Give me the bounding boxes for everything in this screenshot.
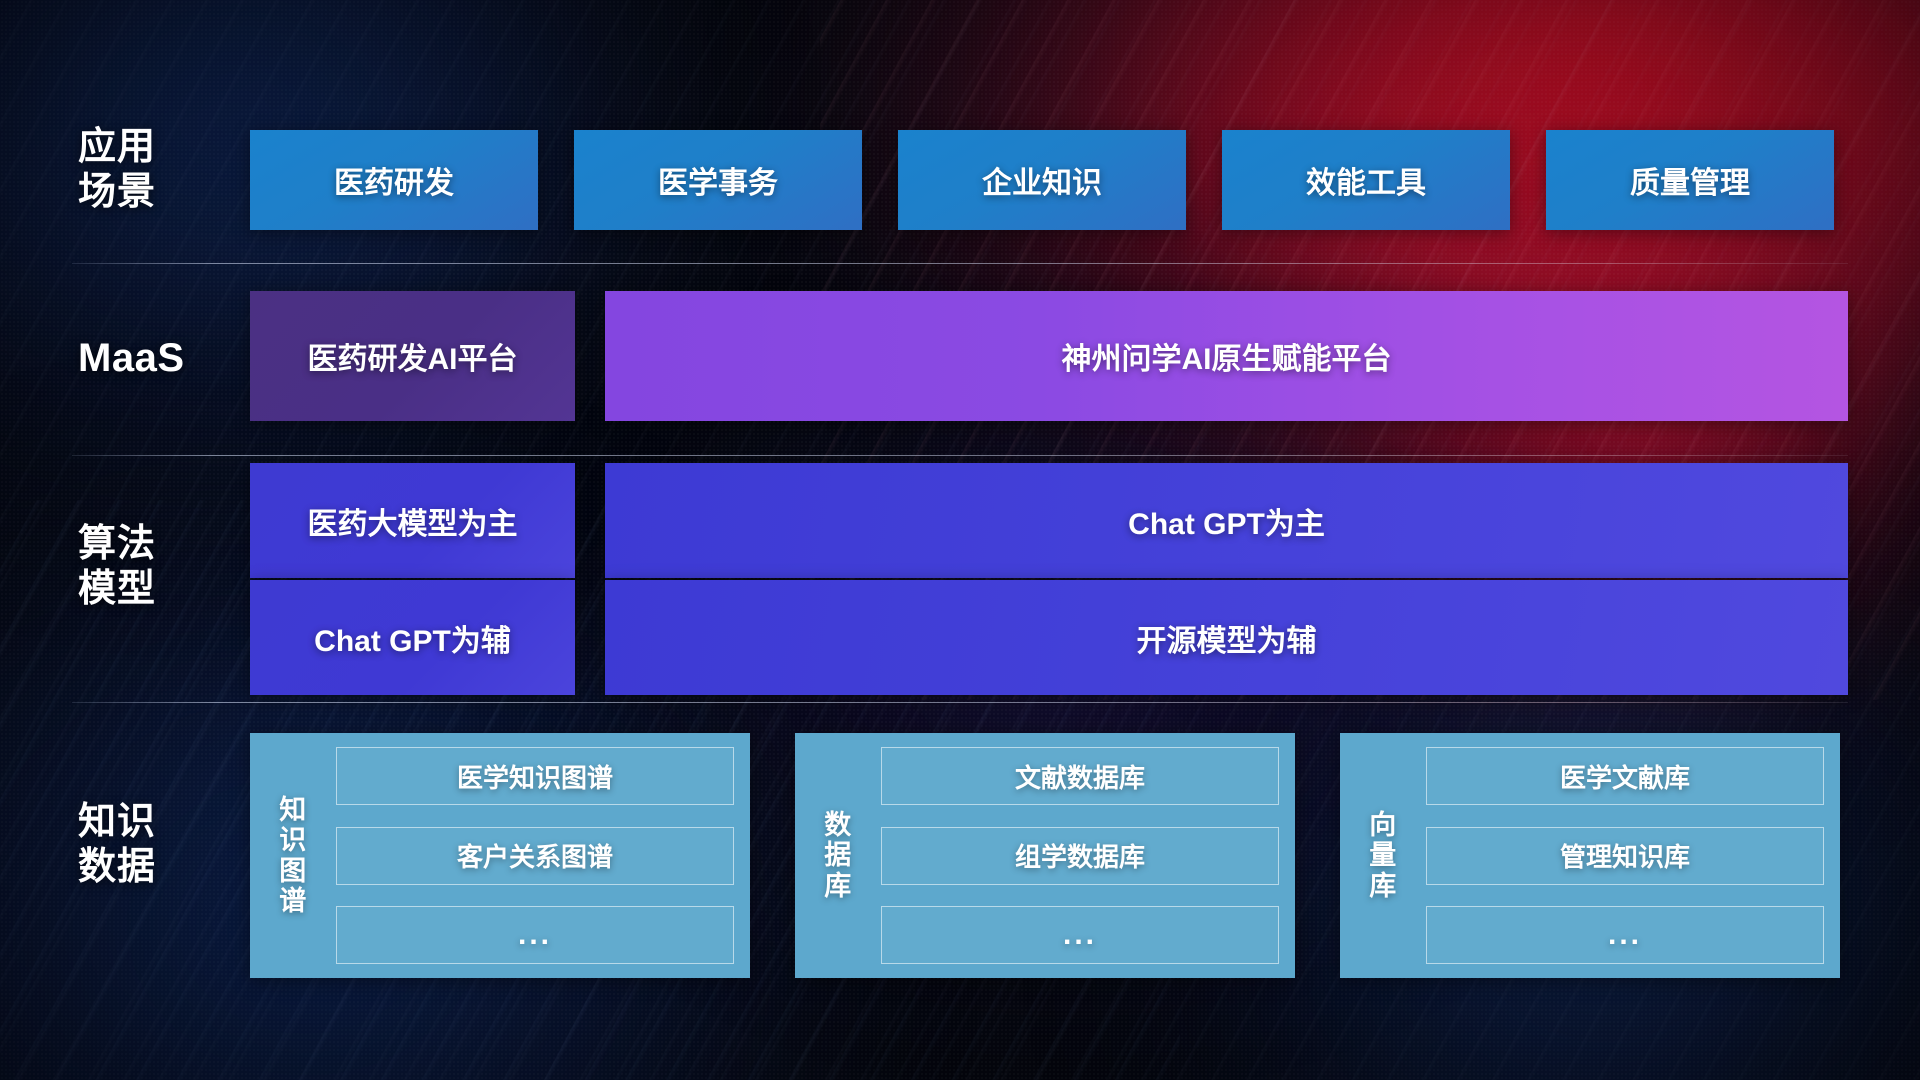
application-layer-row: 医药研发 医学事务 企业知识 效能工具 质量管理 [0,130,1920,230]
vs-title-char-2: 量 [1369,840,1397,870]
maas-layer-row: 医药研发AI平台 神州问学AI原生赋能平台 [0,291,1920,421]
layer-label-algorithm: 算法 模型 [78,522,248,612]
algorithm-box-chatgpt-fu[interactable]: Chat GPT为辅 [250,580,575,695]
kitem-more-vector-store[interactable]: ... [1426,906,1824,964]
algorithm-box-yiyao-damoxing-zhu[interactable]: 医药大模型为主 [250,463,575,578]
db-title-char-3: 库 [824,871,852,901]
db-title-char-2: 据 [824,840,852,870]
knowledge-panel-database[interactable]: 数 据 库 文献数据库 组学数据库 ... [795,733,1295,978]
app-box-qiye-zhishi[interactable]: 企业知识 [898,130,1186,230]
app-box-yiyao-yanfa[interactable]: 医药研发 [250,130,538,230]
kg-title-char-2: 识 [279,825,307,855]
app-box-zhiliang-guanli[interactable]: 质量管理 [1546,130,1834,230]
kitem-zuxue-shujuku[interactable]: 组学数据库 [881,827,1279,885]
knowledge-panel-items-vector-store: 医学文献库 管理知识库 ... [1426,747,1824,964]
kitem-yixue-zhishi-tupu[interactable]: 医学知识图谱 [336,747,734,805]
maas-box-yiyao-yanfa-ai-platform[interactable]: 医药研发AI平台 [250,291,575,421]
layer-label-algorithm-line1: 算法 [78,522,248,567]
kitem-more-database[interactable]: ... [881,906,1279,964]
knowledge-panel-items-knowledge-graph: 医学知识图谱 客户关系图谱 ... [336,747,734,964]
knowledge-panel-title-knowledge-graph: 知 识 图 谱 [262,747,324,964]
divider-maas-algorithm [72,455,1848,456]
algorithm-box-kaiyuan-moxing-fu[interactable]: 开源模型为辅 [605,580,1848,695]
vs-title-char-1: 向 [1369,810,1397,840]
layer-label-knowledge-line2: 数据 [78,845,248,890]
layer-label-knowledge-line1: 知识 [78,800,248,845]
kg-title-char-1: 知 [279,795,307,825]
knowledge-panel-title-vector-store: 向 量 库 [1352,747,1414,964]
architecture-diagram: 应用 场景 医药研发 医学事务 企业知识 效能工具 质量管理 MaaS 医药研发… [0,0,1920,1080]
knowledge-panel-title-database: 数 据 库 [807,747,869,964]
kg-title-char-4: 谱 [279,886,307,916]
maas-box-shenzhou-wenxue-platform[interactable]: 神州问学AI原生赋能平台 [605,291,1848,421]
algorithm-box-chatgpt-zhu[interactable]: Chat GPT为主 [605,463,1848,578]
db-title-char-1: 数 [824,810,852,840]
kitem-kehu-guanxi-tupu[interactable]: 客户关系图谱 [336,827,734,885]
kitem-wenxian-shujuku[interactable]: 文献数据库 [881,747,1279,805]
knowledge-panel-knowledge-graph[interactable]: 知 识 图 谱 医学知识图谱 客户关系图谱 ... [250,733,750,978]
layer-label-algorithm-line2: 模型 [78,567,248,612]
divider-algorithm-knowledge [72,702,1848,703]
knowledge-panel-items-database: 文献数据库 组学数据库 ... [881,747,1279,964]
app-box-yixue-shiwu[interactable]: 医学事务 [574,130,862,230]
knowledge-panel-vector-store[interactable]: 向 量 库 医学文献库 管理知识库 ... [1340,733,1840,978]
layer-label-knowledge: 知识 数据 [78,800,248,890]
kitem-guanli-zhishiku[interactable]: 管理知识库 [1426,827,1824,885]
divider-application-maas [72,263,1848,264]
kitem-more-knowledge-graph[interactable]: ... [336,906,734,964]
kg-title-char-3: 图 [279,856,307,886]
app-box-xiaoneng-gongju[interactable]: 效能工具 [1222,130,1510,230]
kitem-yixue-wenxianku[interactable]: 医学文献库 [1426,747,1824,805]
vs-title-char-3: 库 [1369,871,1397,901]
